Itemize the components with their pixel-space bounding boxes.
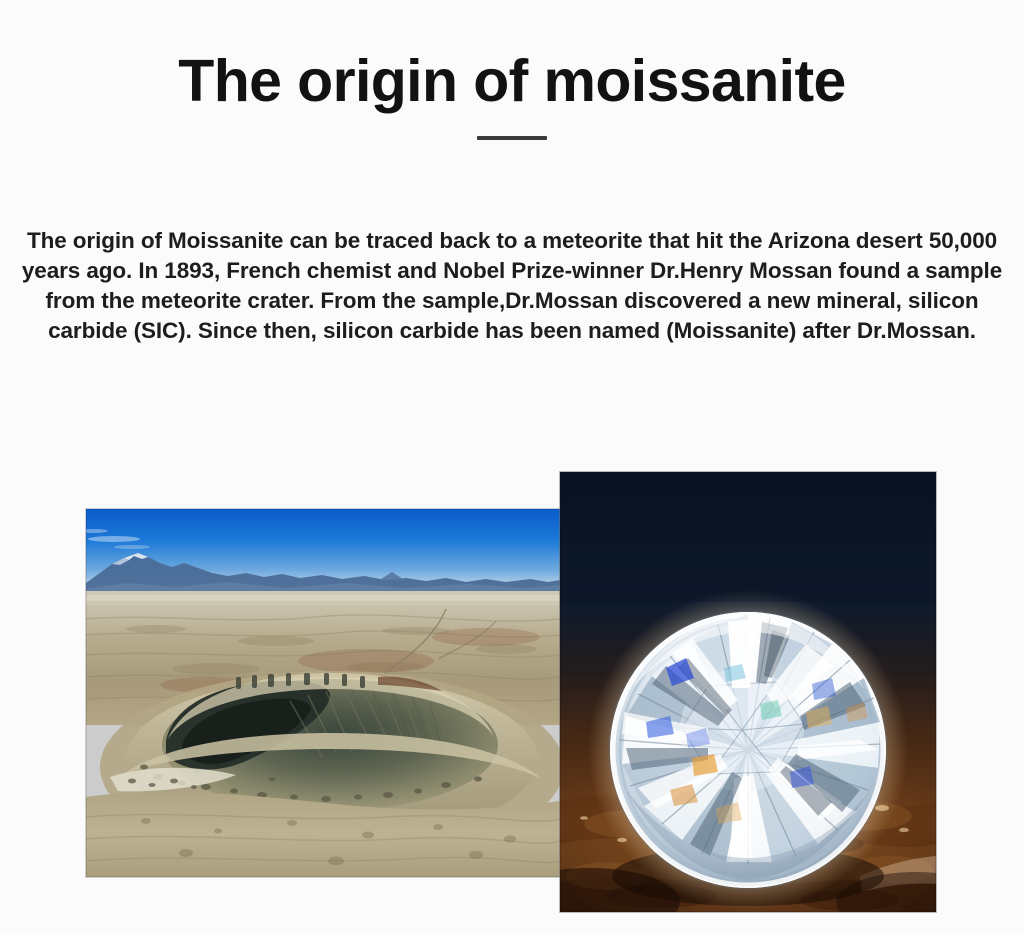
moissanite-gem-photo bbox=[560, 472, 936, 912]
page-root: The origin of moissanite The origin of M… bbox=[0, 0, 1024, 935]
page-title: The origin of moissanite bbox=[0, 50, 1024, 114]
moissanite-gem-illustration bbox=[560, 472, 936, 912]
meteor-crater-photo bbox=[86, 509, 560, 877]
title-divider bbox=[477, 136, 547, 140]
body-paragraph: The origin of Moissanite can be traced b… bbox=[18, 226, 1006, 346]
title-block: The origin of moissanite bbox=[0, 50, 1024, 140]
meteor-crater-illustration bbox=[86, 509, 560, 877]
photo-collage bbox=[0, 0, 1024, 935]
